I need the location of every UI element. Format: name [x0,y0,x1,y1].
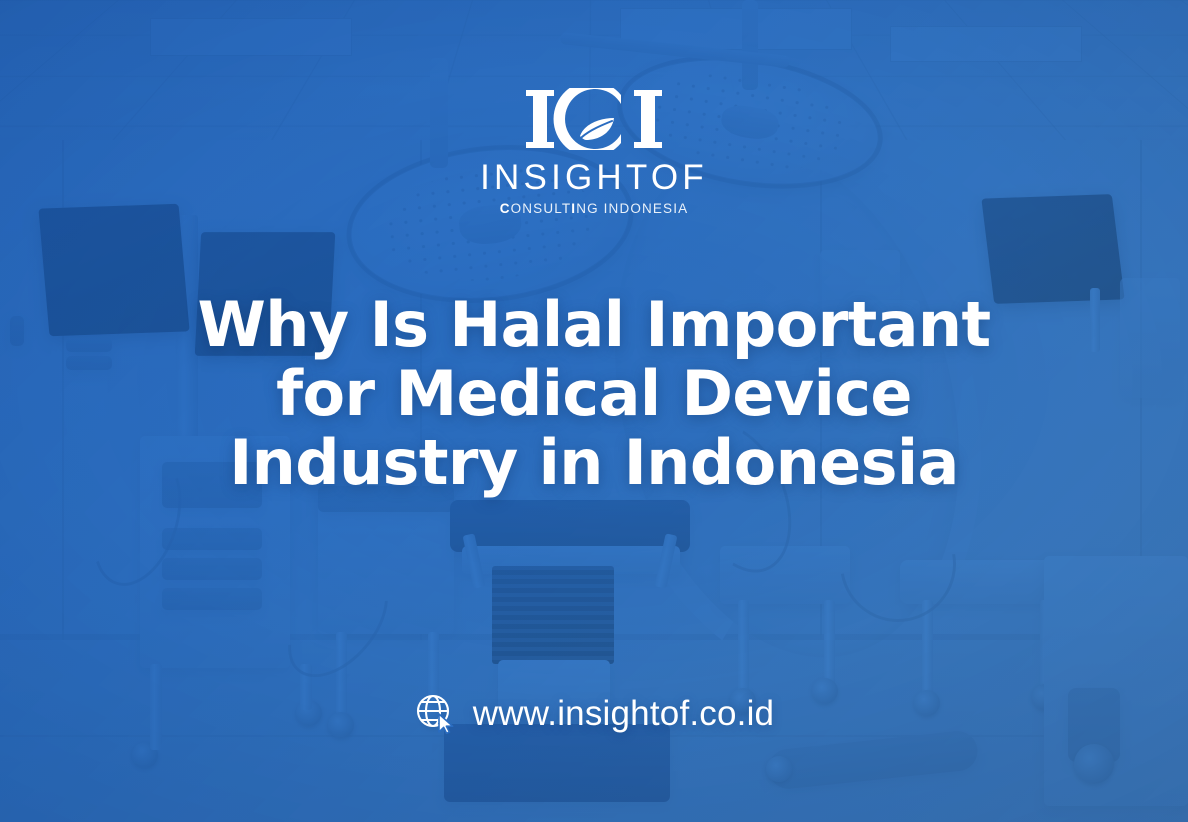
headline-line-3: Industry in Indonesia [197,428,990,497]
headline-line-1: Why Is Halal Important [197,290,990,359]
logo-tagline: CONSULTING INDONESIA [500,202,689,216]
logo-company-name: INSIGHTOF [480,160,708,195]
promo-banner: INSIGHTOF CONSULTING INDONESIA Why Is Ha… [0,0,1188,822]
banner-content: INSIGHTOF CONSULTING INDONESIA Why Is Ha… [0,0,1188,822]
logo-tagline-suffix: NG INDONESIA [576,201,688,216]
page-title: Why Is Halal Important for Medical Devic… [197,290,990,498]
logo-mark-ici [520,88,668,150]
headline-line-2: for Medical Device [197,359,990,428]
logo-tagline-mid: ONSULT [511,201,572,216]
website-url[interactable]: www.insightof.co.id [473,696,774,731]
logo-tagline-c: C [500,201,511,216]
globe-cursor-icon [414,692,456,734]
brand-logo: INSIGHTOF CONSULTING INDONESIA [480,88,708,216]
website-row[interactable]: www.insightof.co.id [0,692,1188,734]
